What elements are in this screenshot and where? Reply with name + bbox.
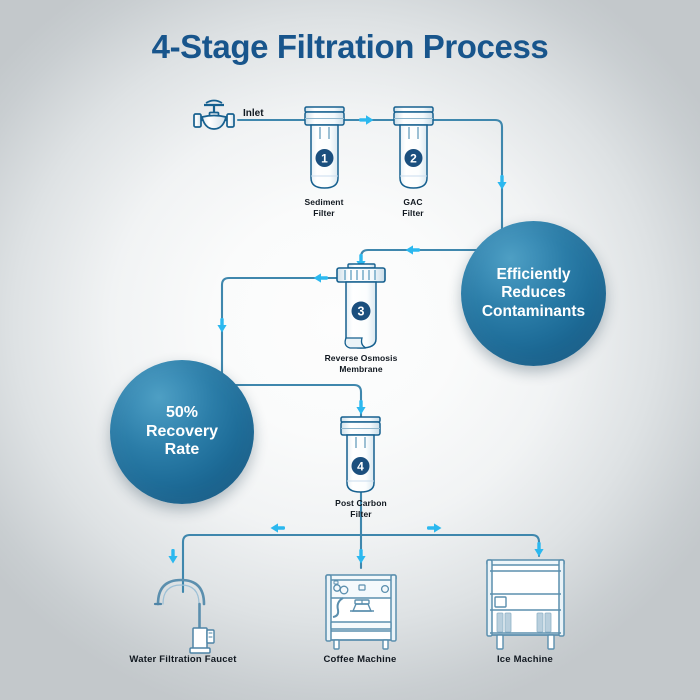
arrow-down-right-column [497, 175, 506, 190]
callout-contaminants: Efficiently Reduces Contaminants [461, 221, 606, 366]
valve-icon [194, 101, 234, 130]
inlet-label: Inlet [243, 108, 264, 119]
filtration-diagram-svg: 1 2 [0, 0, 700, 700]
output-label-ice: Ice Machine [470, 654, 580, 665]
coffee-machine-icon [326, 575, 396, 649]
filter-housing-4: 4 [341, 417, 380, 492]
output-label-coffee: Coffee Machine [300, 654, 420, 665]
arrow-down-left-column [217, 318, 226, 333]
arrow-down-into-stage4 [356, 400, 365, 415]
arrow-right-stage1-stage2 [359, 115, 374, 124]
output-label-faucet: Water Filtration Faucet [113, 654, 253, 665]
callout-recovery: 50% Recovery Rate [110, 360, 254, 504]
diagram-canvas: 4-Stage Filtration Process [0, 0, 700, 700]
ro-membrane-housing-3: 3 [337, 264, 385, 348]
stage-badge-2: 2 [410, 151, 417, 165]
arrow-left-ro-outlet [314, 273, 329, 282]
stage-label-2: GAC Filter [363, 197, 463, 219]
callout-contaminants-line-3: Contaminants [482, 303, 585, 321]
stage-label-4: Post Carbon Filter [301, 498, 421, 520]
stage-label-1: Sediment Filter [274, 197, 374, 219]
stage-badge-3: 3 [358, 305, 365, 319]
arrow-down-to-coffee [356, 549, 365, 564]
callout-recovery-line-3: Rate [146, 441, 218, 460]
callout-recovery-line-1: 50% [146, 404, 218, 423]
callout-recovery-line-2: Recovery [146, 423, 218, 442]
stage-badge-1: 1 [321, 151, 328, 165]
arrow-down-to-ice [534, 542, 543, 557]
callout-contaminants-line-1: Efficiently [482, 266, 585, 284]
arrow-left-ro-feed-right [406, 245, 421, 254]
arrow-down-to-faucet [168, 549, 177, 564]
filter-housing-2: 2 [394, 107, 433, 188]
arrow-left-manifold [271, 523, 286, 532]
faucet-icon [155, 580, 214, 653]
callout-contaminants-line-2: Reduces [482, 284, 585, 302]
arrow-right-manifold [427, 523, 442, 532]
stage-badge-4: 4 [357, 459, 364, 473]
filter-housing-1: 1 [305, 107, 344, 188]
stage-label-3: Reverse Osmosis Membrane [296, 353, 426, 375]
pipe-manifold-left-drop [183, 535, 190, 592]
ice-machine-icon [487, 560, 564, 649]
